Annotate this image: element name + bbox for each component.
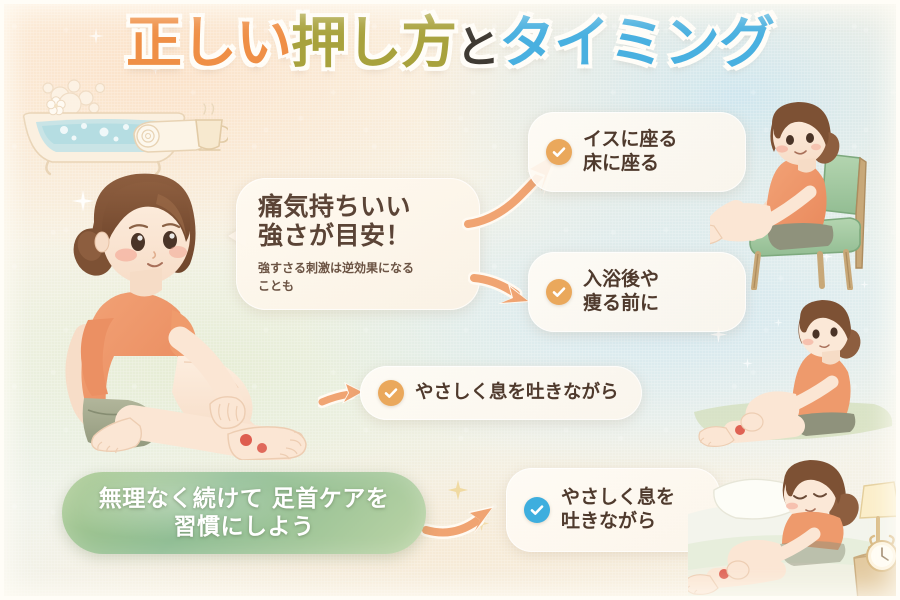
title-text: 正しい押し方とタイミング (126, 16, 774, 72)
woman-lying-in-bed-with-nightstand (688, 452, 900, 600)
title-segment-4: タイミング (499, 16, 774, 72)
check-circle-icon (524, 497, 550, 523)
check-circle-icon (546, 139, 572, 165)
infographic-canvas: 正しい押し方とタイミング (0, 0, 900, 600)
acupoint-marker (240, 434, 252, 446)
checklist-line2: 痩る前に (583, 292, 659, 314)
main-message-sub-line1: 強すさる刺激は逆効果になる (258, 259, 464, 277)
main-message-sub-line2: ことも (258, 277, 464, 295)
title-segment-3: と (456, 26, 499, 70)
main-message-line1: 痛気持ちいい (258, 192, 464, 221)
checklist-line2: 吐きながら (561, 510, 656, 532)
checklist-label: やさしく息を 吐きながら (561, 486, 675, 534)
acupoint-marker (257, 443, 267, 453)
checklist-label: イスに座る 床に座る (583, 128, 677, 176)
closing-banner: 無理なく続けて 足首ケアを 習慣にしよう (62, 472, 426, 554)
checklist-line1: やさしく息を (561, 486, 675, 508)
banner-line1: 無理なく続けて 足首ケアを (99, 485, 390, 513)
banner-line2: 習慣にしよう (99, 513, 390, 541)
checklist-label: 入浴後や 痩る前に (583, 268, 659, 316)
check-circle-icon (546, 279, 572, 305)
page-title: 正しい押し方とタイミング (0, 16, 900, 72)
checklist-item-breathe-out[interactable]: やさしく息を吐きながら (360, 366, 642, 420)
banner-text: 無理なく続けて 足首ケアを 習慣にしよう (99, 485, 390, 541)
title-segment-1: 正しい (126, 16, 291, 72)
checklist-line2: 床に座る (583, 152, 659, 174)
checklist-line1: イスに座る (583, 128, 677, 150)
title-segment-2: 押し方 (291, 16, 456, 72)
main-message-line2: 強さが目安！ (258, 221, 464, 250)
checklist-line1: 入浴後や (583, 268, 659, 290)
woman-sitting-on-green-chair (710, 100, 900, 290)
main-message-subtext: 強すさる刺激は逆効果になる ことも (258, 259, 464, 295)
woman-sitting-floor-small (694, 300, 894, 460)
checklist-label: やさしく息を吐きながら (415, 381, 619, 404)
check-circle-icon (378, 380, 404, 406)
main-message-bubble: 痛気持ちいい 強さが目安！ 強すさる刺激は逆効果になる ことも (236, 178, 480, 310)
